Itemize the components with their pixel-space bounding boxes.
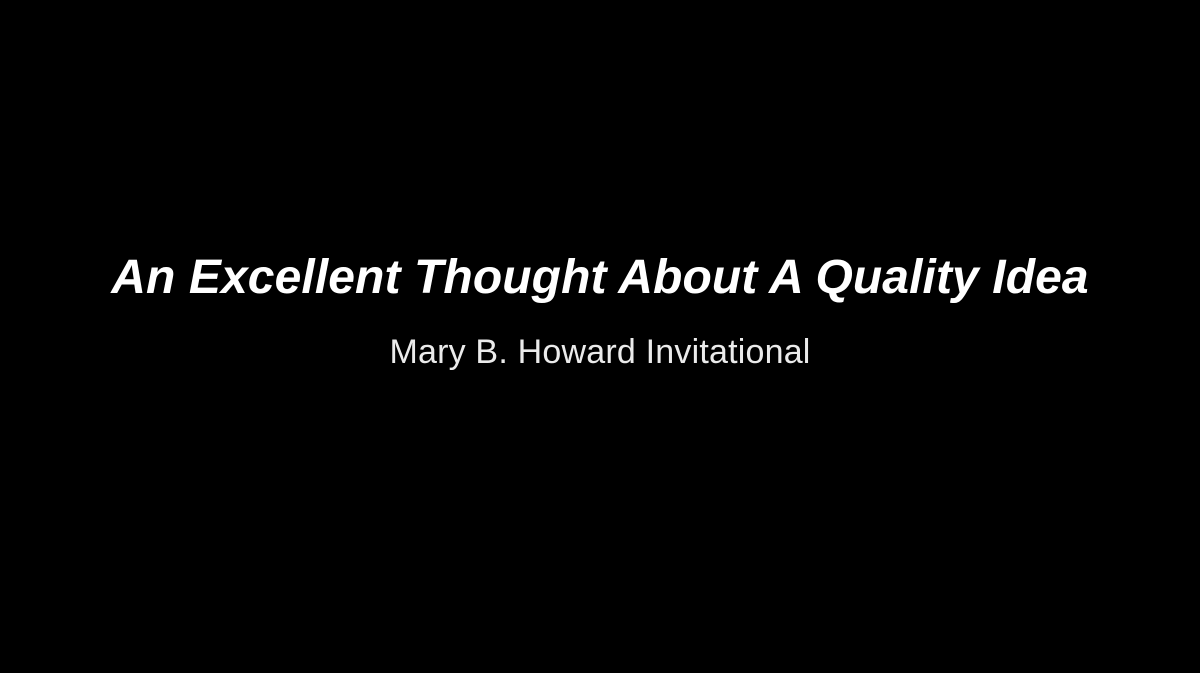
title-card-slide: An Excellent Thought About A Quality Ide… xyxy=(0,0,1200,673)
title-text-block: An Excellent Thought About A Quality Ide… xyxy=(0,248,1200,372)
slide-title: An Excellent Thought About A Quality Ide… xyxy=(0,248,1200,308)
slide-subtitle: Mary B. Howard Invitational xyxy=(0,332,1200,372)
